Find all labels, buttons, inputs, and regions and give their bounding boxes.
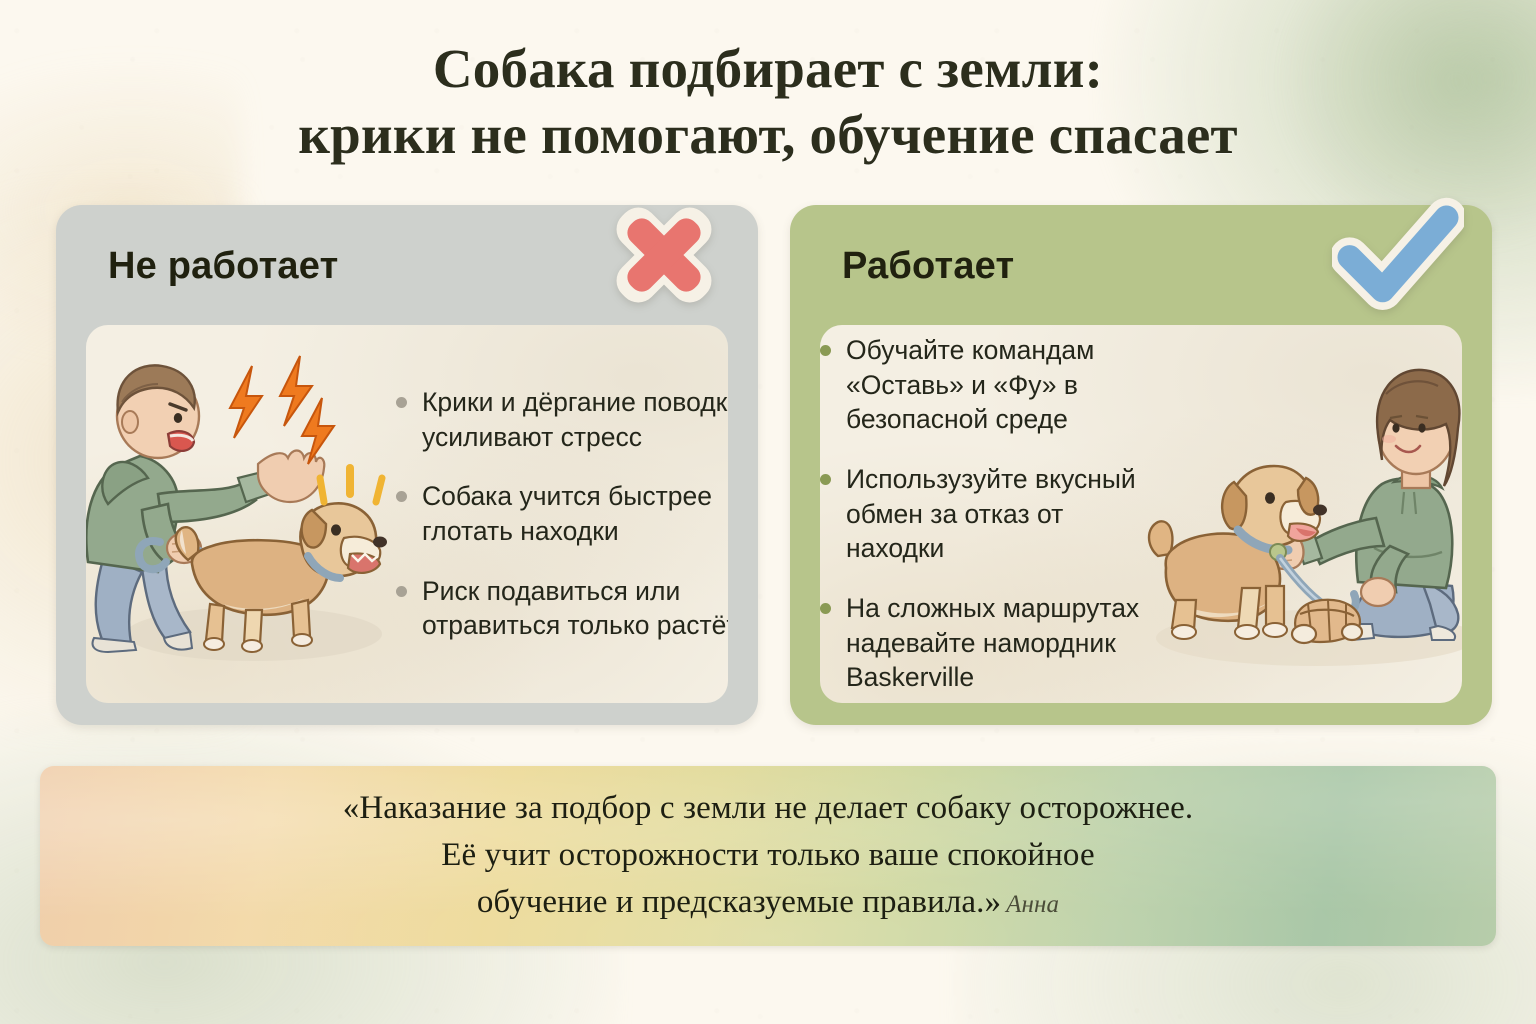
panel-not-working-card: Крики и дёргание поводка усиливают стрес… — [86, 325, 728, 703]
page-title-line-2: крики не помогают, обучение спасает — [0, 102, 1536, 168]
quote-line-3: обучение и предсказуемые правила.»Анна — [40, 879, 1496, 926]
panel-not-working-bullets: Крики и дёргание поводка усиливают стрес… — [396, 385, 728, 643]
list-item: На сложных маршрутах надевайте намордник… — [820, 591, 1146, 695]
panel-working: Работает Обучайте командам «Оставь» и «Ф… — [790, 205, 1492, 725]
quote-line-1: «Наказание за подбор с земли не делает с… — [40, 785, 1496, 832]
panel-working-card: Обучайте командам «Оставь» и «Фу» в безо… — [820, 325, 1462, 703]
panel-working-bullets: Обучайте командам «Оставь» и «Фу» в безо… — [820, 333, 1146, 695]
bark-emphasis-lines — [320, 468, 382, 502]
quote-line-2: Её учит осторожности только ваше спокойн… — [40, 832, 1496, 879]
quote-banner: «Наказание за подбор с земли не делает с… — [40, 766, 1496, 946]
red-cross-icon — [598, 189, 730, 321]
list-item: Собака учится быстрее глотать находки — [396, 479, 728, 548]
list-item: Использузуйте вкусный обмен за отказ от … — [820, 462, 1146, 566]
quote-line-3-text: обучение и предсказуемые правила.» — [477, 884, 1001, 920]
list-item: Обучайте командам «Оставь» и «Фу» в безо… — [820, 333, 1146, 437]
panel-not-working-heading: Не работает — [108, 245, 338, 288]
list-item: Крики и дёргание поводка усиливают стрес… — [396, 385, 728, 454]
lightning-bolts — [230, 356, 334, 464]
infographic-poster: Собака подбирает с земли: крики не помог… — [0, 0, 1536, 1024]
blue-check-icon — [1332, 189, 1464, 321]
page-title-line-1: Собака подбирает с земли: — [0, 36, 1536, 102]
baskerville-muzzle-on-ground — [1292, 599, 1362, 642]
list-item: Риск подавиться или отравиться только ра… — [396, 574, 728, 643]
quote-author: Анна — [1006, 891, 1059, 918]
illustration-man-yelling-at-dog — [86, 342, 396, 687]
illustration-woman-training-dog — [1146, 342, 1462, 687]
panel-working-heading: Работает — [842, 245, 1014, 288]
panel-not-working: Не работает — [56, 205, 758, 725]
page-title: Собака подбирает с земли: крики не помог… — [0, 36, 1536, 168]
quote-text: «Наказание за подбор с земли не делает с… — [40, 766, 1496, 926]
